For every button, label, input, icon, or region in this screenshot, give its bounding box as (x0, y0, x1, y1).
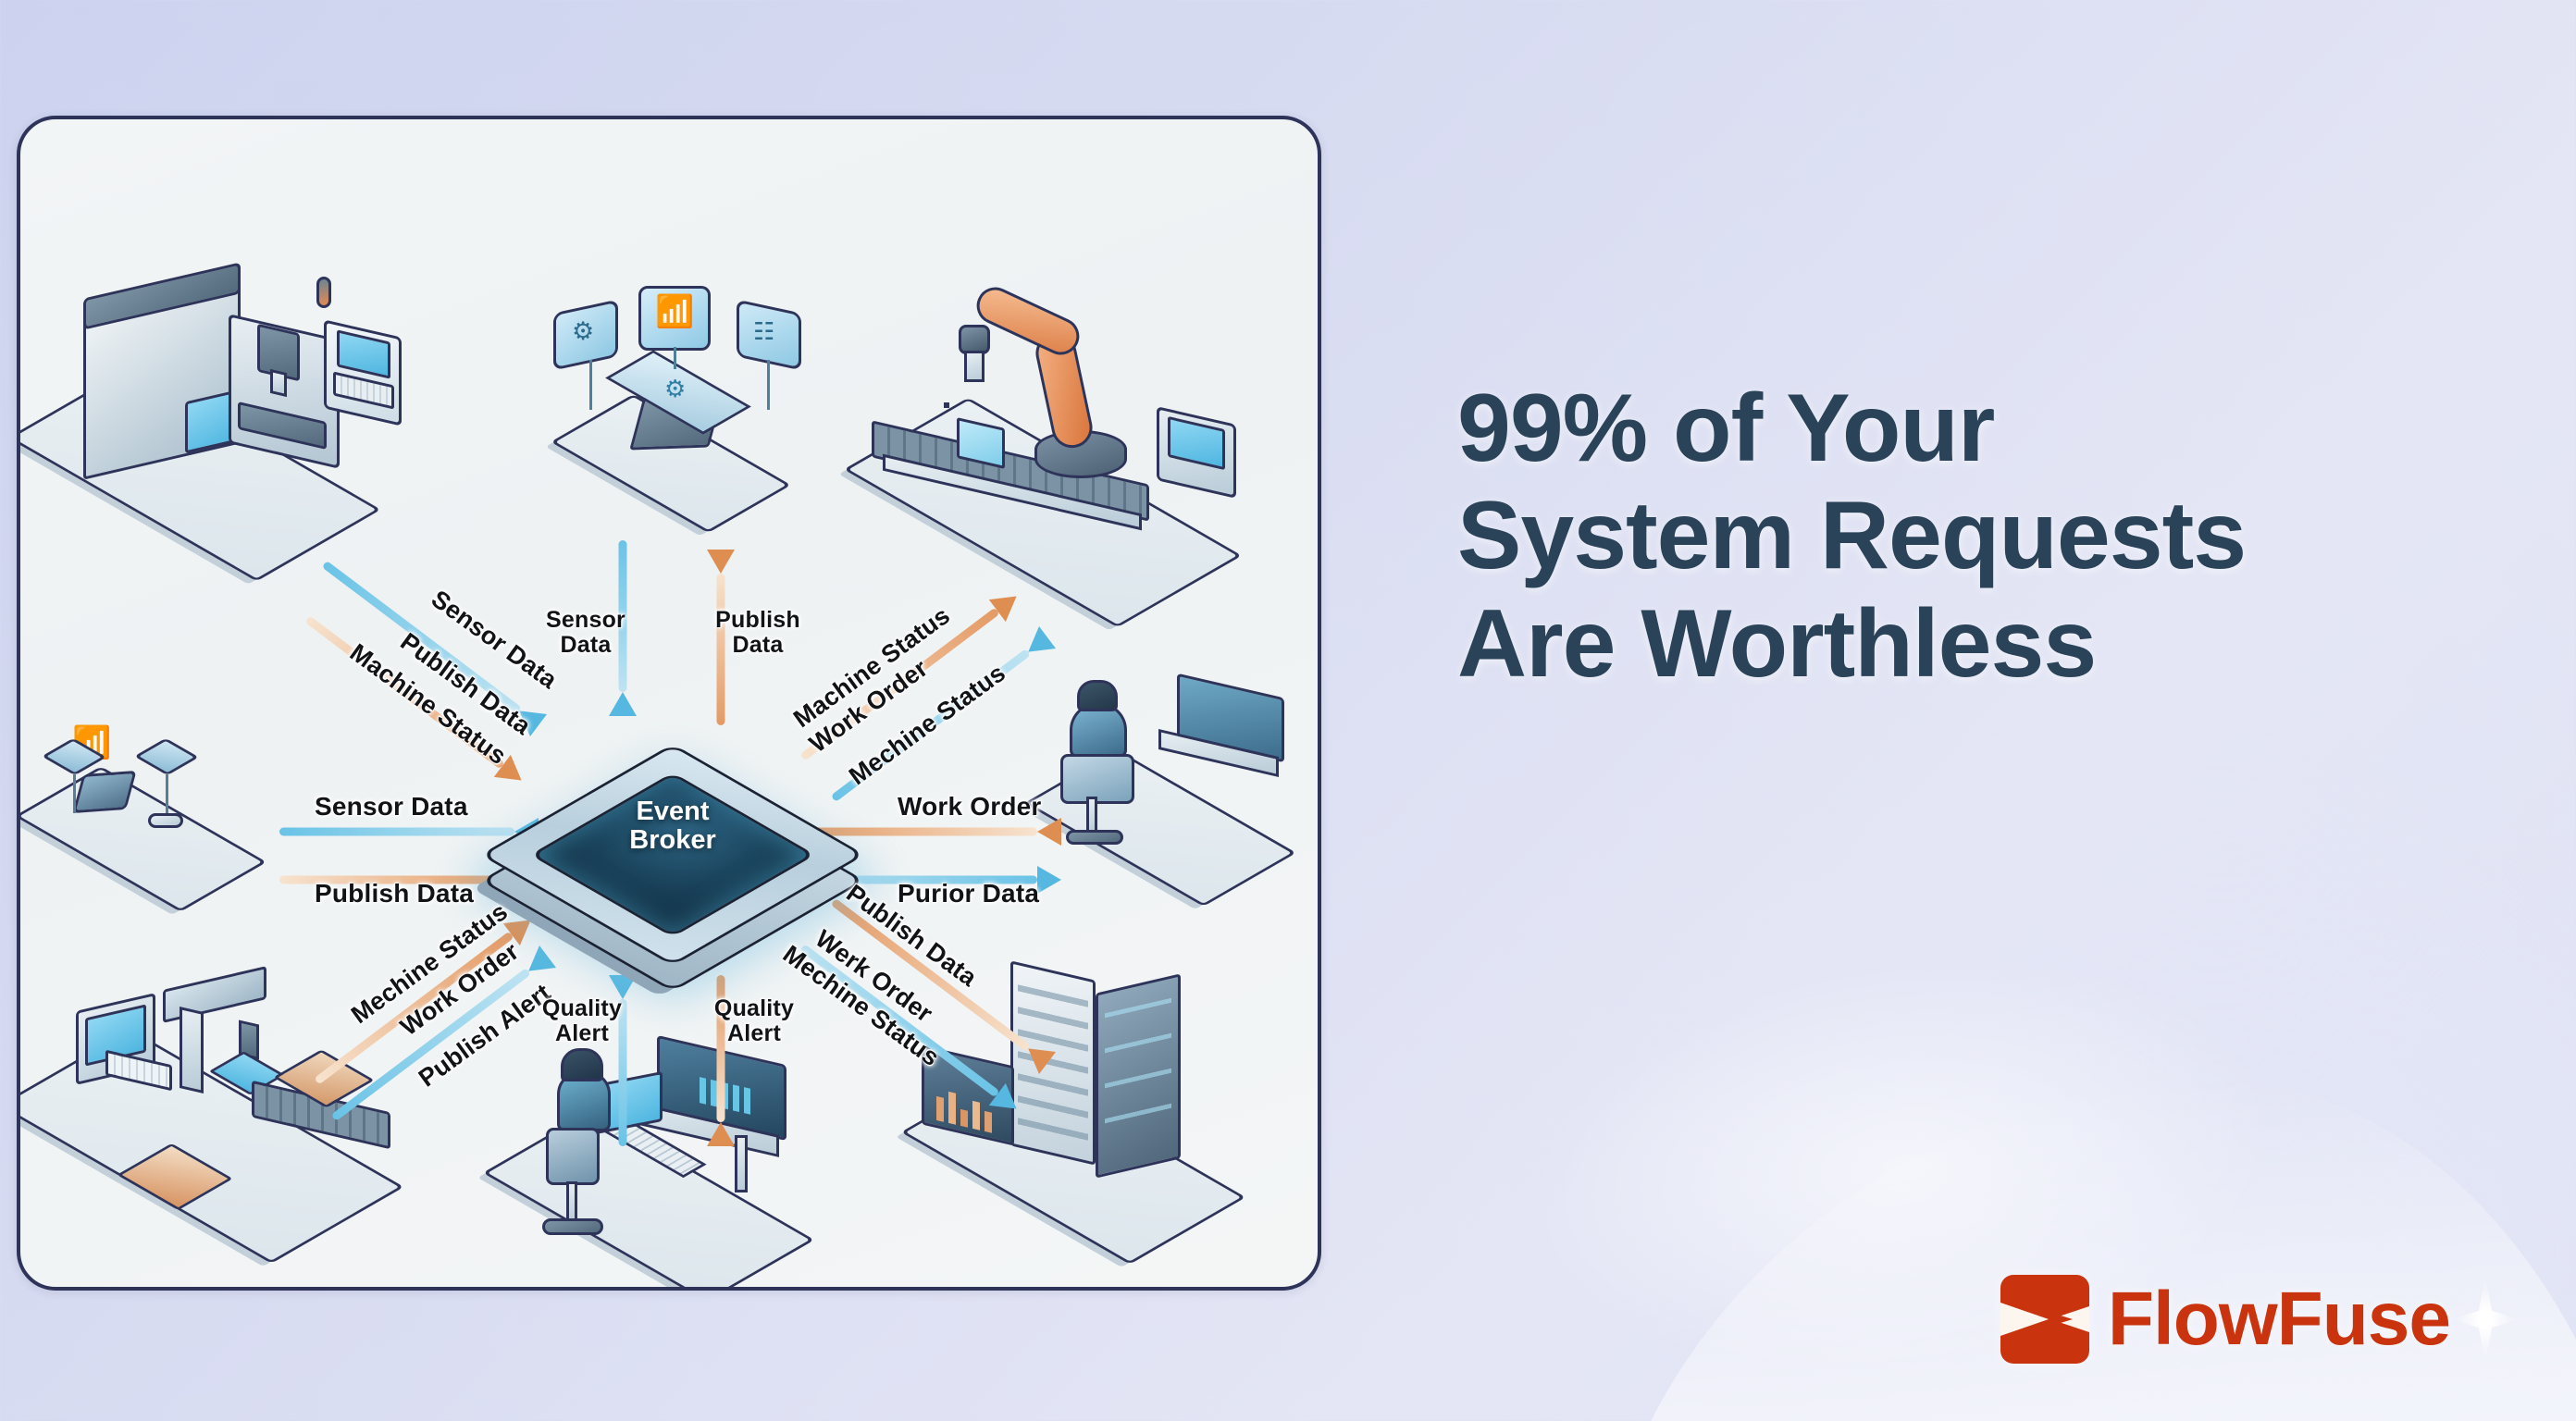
flowfuse-mark-icon (2000, 1275, 2089, 1364)
flow-label-sensor-data-top: Sensor Data (535, 608, 637, 658)
network-icon: ☷ (753, 317, 774, 346)
flow-label-publish-data-top: Publish Data (707, 608, 809, 658)
flow-label-sensor-data-left: Sensor Data (315, 793, 468, 821)
flow-label-work-order-right: Work Order (898, 793, 1042, 821)
flow-label-quality-alert-bot-in: Quality Alert (531, 996, 633, 1046)
node-robot-cell (835, 258, 1269, 591)
broker-label-line2: Broker (629, 825, 716, 855)
page-title: 99% of Your System Requests Are Worthles… (1457, 375, 2549, 698)
node-engineer-desk (1029, 674, 1307, 906)
event-broker-label: Event Broker (552, 797, 793, 854)
gear-icon: ⚙ (664, 375, 686, 403)
flow-label-purior-data-right: Purior Data (898, 880, 1039, 908)
node-cnc-machine (39, 240, 427, 554)
flowfuse-wordmark: FlowFuse (2108, 1276, 2450, 1363)
flow-label-publish-data-left: Publish Data (315, 880, 474, 908)
gear-icon: ⚙ (572, 317, 594, 346)
flow-label-quality-alert-bot-out: Quality Alert (703, 996, 805, 1046)
headline-line-3: Are Worthless (1457, 590, 2549, 698)
node-packaging-line (30, 933, 418, 1248)
node-operator-desk (492, 1026, 853, 1291)
node-iot-gateway: ⚙ ⚙ 📶 ☷ (539, 286, 816, 536)
headline-line-2: System Requests (1457, 482, 2549, 589)
flowfuse-logo[interactable]: FlowFuse (2000, 1275, 2519, 1364)
event-broker-node[interactable]: Event Broker (552, 725, 793, 966)
diagram-card: ⚙ ⚙ 📶 ☷ 📶 (17, 116, 1321, 1291)
background-swoosh-lower (1544, 1043, 2576, 1421)
sparkle-icon (2452, 1277, 2519, 1362)
headline-line-1: 99% of Your (1457, 375, 2549, 482)
wifi-icon: 📶 (655, 293, 694, 330)
broker-label-line1: Event (637, 797, 710, 826)
node-sensor-mesh: 📶 (20, 702, 279, 915)
